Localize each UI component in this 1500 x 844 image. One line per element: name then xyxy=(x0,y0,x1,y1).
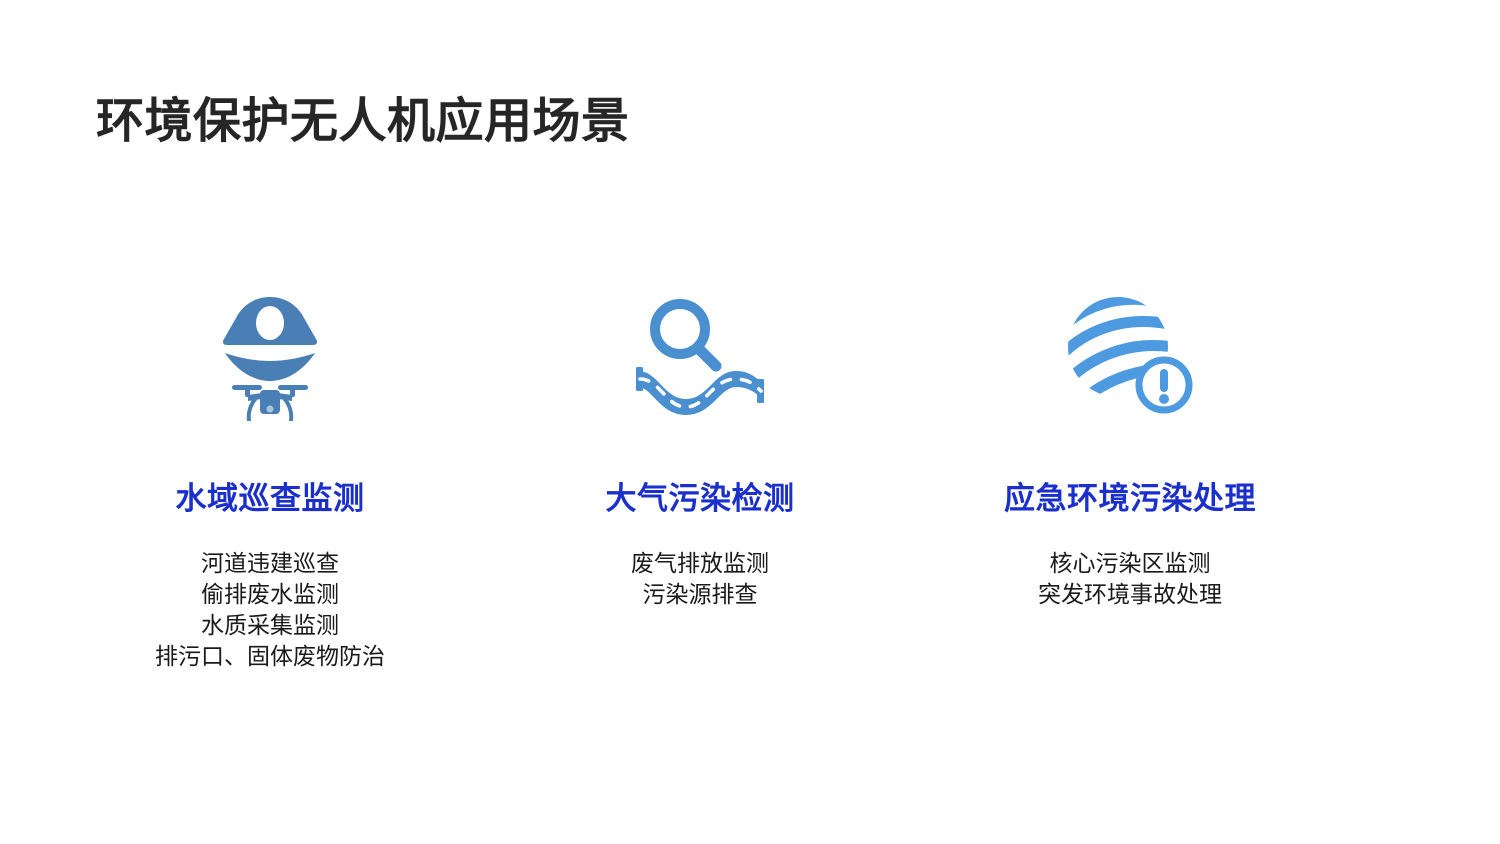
police-cap-drone-icon xyxy=(195,285,345,425)
magnifier-road-icon xyxy=(625,285,775,425)
list-item: 排污口、固体废物防治 xyxy=(155,641,385,672)
list-item: 河道违建巡查 xyxy=(155,548,385,579)
scenario-detail-list-3: 核心污染区监测 突发环境事故处理 xyxy=(1038,548,1222,610)
scenario-card-1[interactable]: 水域巡查监测 河道违建巡查 偷排废水监测 水质采集监测 排污口、固体废物防治 xyxy=(55,285,485,672)
scenario-card-3[interactable]: 应急环境污染处理 核心污染区监测 突发环境事故处理 xyxy=(915,285,1345,610)
list-item: 偷排废水监测 xyxy=(155,579,385,610)
slide-canvas: 环境保护无人机应用场景 xyxy=(0,0,1500,844)
list-item: 突发环境事故处理 xyxy=(1038,579,1222,610)
scenario-detail-list-1: 河道违建巡查 偷排废水监测 水质采集监测 排污口、固体废物防治 xyxy=(155,548,385,672)
scenario-heading-1: 水域巡查监测 xyxy=(176,473,365,518)
list-item: 水质采集监测 xyxy=(155,610,385,641)
striped-globe-alert-icon xyxy=(1055,285,1205,425)
page-title: 环境保护无人机应用场景 xyxy=(96,94,630,149)
scenario-heading-2: 大气污染检测 xyxy=(606,473,795,518)
scenario-card-2[interactable]: 大气污染检测 废气排放监测 污染源排查 xyxy=(485,285,915,610)
scenario-columns: 水域巡查监测 河道违建巡查 偷排废水监测 水质采集监测 排污口、固体废物防治 xyxy=(0,285,1500,672)
list-item: 核心污染区监测 xyxy=(1038,548,1222,579)
list-item: 污染源排查 xyxy=(631,579,769,610)
scenario-detail-list-2: 废气排放监测 污染源排查 xyxy=(631,548,769,610)
list-item: 废气排放监测 xyxy=(631,548,769,579)
scenario-heading-3: 应急环境污染处理 xyxy=(1004,473,1256,518)
